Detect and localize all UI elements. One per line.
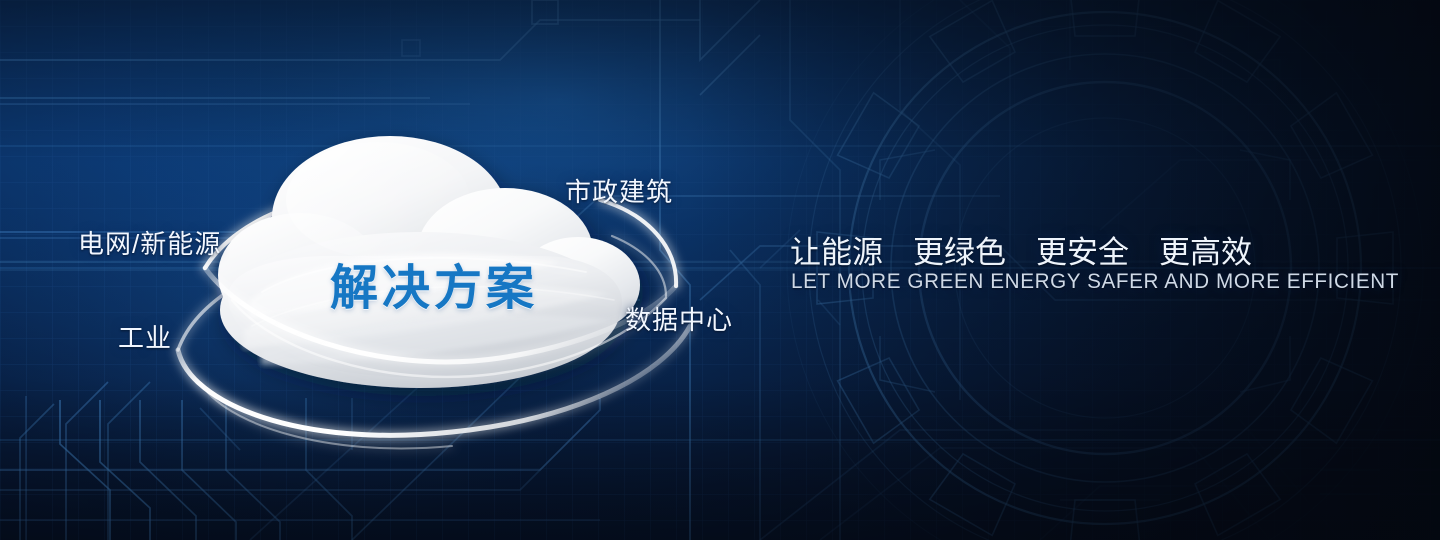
slogan-segment: 更安全 [1036, 227, 1129, 272]
cloud-title-solution: 解决方案 [330, 248, 538, 318]
slogan-segment: 更绿色 [913, 227, 1006, 272]
category-label-power-grid[interactable]: 电网/新能源 [78, 224, 221, 261]
slogan-english: LET MORE GREEN ENERGY SAFER AND MORE EFF… [791, 270, 1399, 294]
slogan-chinese: 让能源更绿色更安全更高效 [790, 227, 1252, 272]
slogan-segment: 让能源 [790, 227, 883, 272]
category-label-data-center[interactable]: 数据中心 [625, 300, 733, 337]
slogan-segment: 更高效 [1159, 227, 1252, 272]
category-label-municipal-building[interactable]: 市政建筑 [565, 172, 673, 209]
solution-banner: 电网/新能源 市政建筑 工业 数据中心 解决方案 让能源更绿色更安全更高效 LE… [0, 0, 1440, 540]
category-label-industry[interactable]: 工业 [118, 318, 172, 355]
